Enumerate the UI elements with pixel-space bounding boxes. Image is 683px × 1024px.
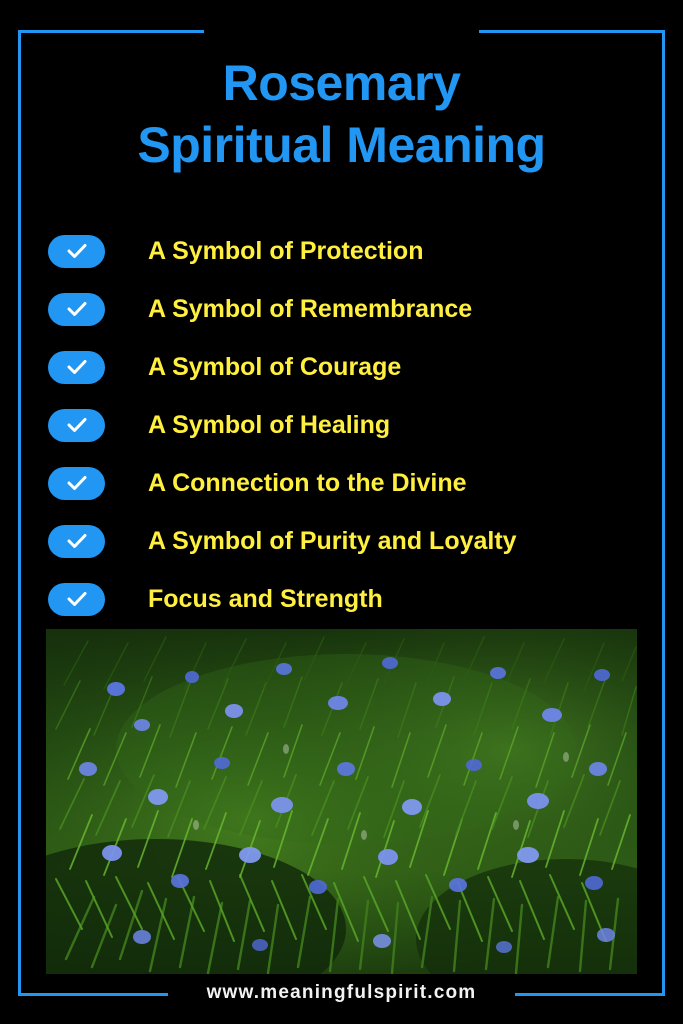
- list-item: A Symbol of Courage: [48, 338, 648, 396]
- frame-top-right-segment: [479, 30, 665, 33]
- website-url[interactable]: www.meaningfulspirit.com: [0, 982, 683, 1004]
- list-item-label: A Symbol of Protection: [148, 237, 423, 265]
- check-icon: [48, 409, 105, 442]
- check-icon: [48, 525, 105, 558]
- list-item: Focus and Strength: [48, 570, 648, 628]
- check-icon: [48, 351, 105, 384]
- list-item: A Symbol of Healing: [48, 396, 648, 454]
- list-item: A Symbol of Protection: [48, 222, 648, 280]
- list-item-label: A Symbol of Purity and Loyalty: [148, 527, 517, 555]
- check-icon: [48, 467, 105, 500]
- title-line-2: Spiritual Meaning: [0, 114, 683, 176]
- list-item-label: A Symbol of Courage: [148, 353, 401, 381]
- title-line-1: Rosemary: [0, 52, 683, 114]
- rosemary-photo: [46, 629, 637, 974]
- list-item: A Symbol of Remembrance: [48, 280, 648, 338]
- list-item-label: Focus and Strength: [148, 585, 383, 613]
- meaning-list: A Symbol of Protection A Symbol of Remem…: [48, 222, 648, 628]
- list-item-label: A Symbol of Remembrance: [148, 295, 472, 323]
- list-item: A Connection to the Divine: [48, 454, 648, 512]
- frame-top-left-segment: [18, 30, 204, 33]
- check-icon: [48, 293, 105, 326]
- check-icon: [48, 235, 105, 268]
- page-title: Rosemary Spiritual Meaning: [0, 52, 683, 176]
- list-item: A Symbol of Purity and Loyalty: [48, 512, 648, 570]
- check-icon: [48, 583, 105, 616]
- list-item-label: A Connection to the Divine: [148, 469, 467, 497]
- poster-canvas: Rosemary Spiritual Meaning A Symbol of P…: [0, 0, 683, 1024]
- list-item-label: A Symbol of Healing: [148, 411, 390, 439]
